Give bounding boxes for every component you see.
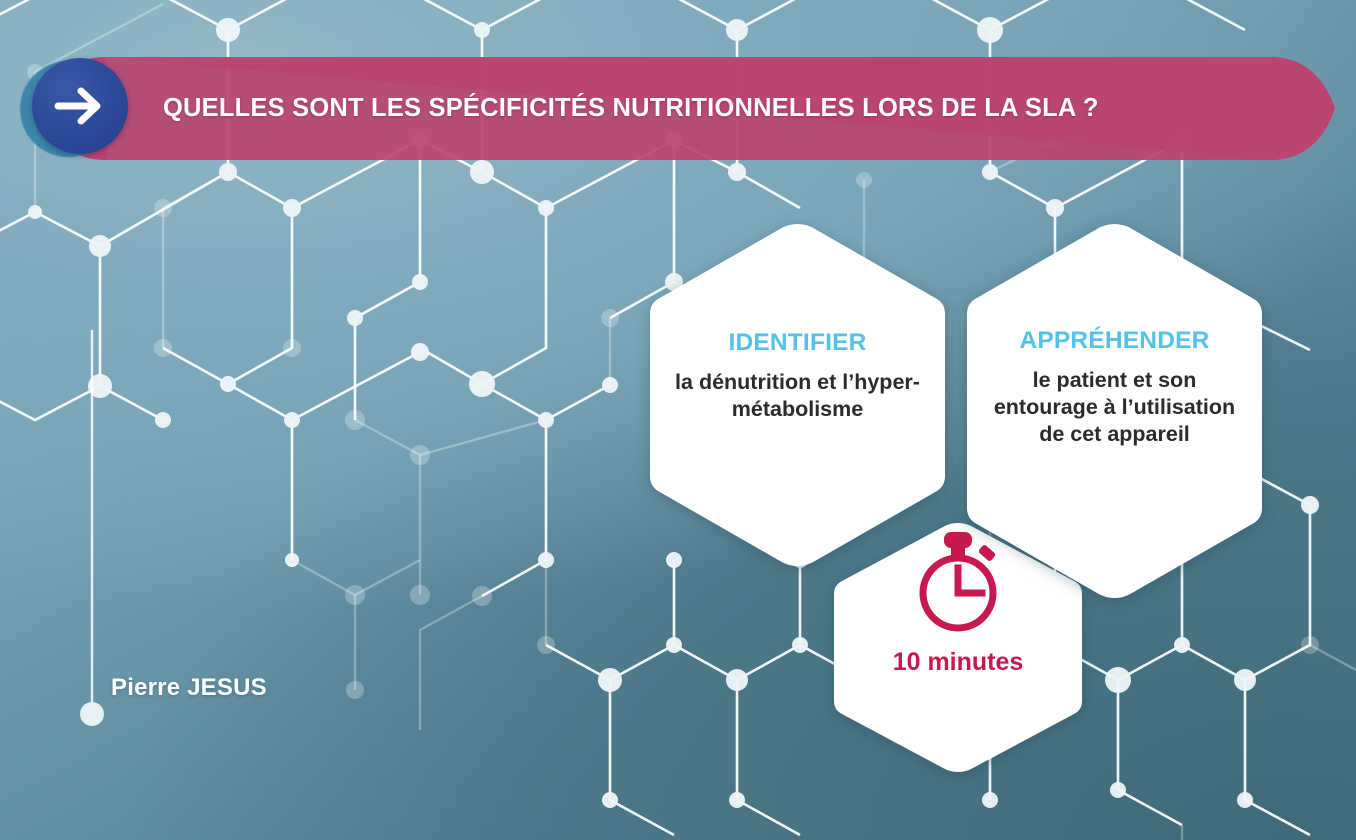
hexagon-card-apprehender[interactable]: 2 APPRÉHENDER le patient et son entourag… [963,290,1266,532]
timer-label: 10 minutes [831,648,1085,677]
card-heading: IDENTIFIER [672,330,923,357]
page-title: QUELLES SONT LES SPÉCIFICITÉS NUTRITIONN… [163,57,1099,160]
presentation-slide: .ln { stroke:#ffffff; stroke-width:2.6; … [0,0,1356,840]
card-text: le patient et son entourage à l’utilisat… [989,367,1240,448]
badge-circle [32,58,128,154]
author-connector-line [70,330,130,730]
slide-header-banner: QUELLES SONT LES SPÉCIFICITÉS NUTRITIONN… [55,57,1340,160]
card-text: la dénutrition et l’hyper-métabolisme [672,369,923,423]
author-name: Pierre JESUS [111,674,267,702]
card-body: APPRÉHENDER le patient et son entourage … [963,328,1266,448]
card-body: IDENTIFIER la dénutrition et l’hyper-mét… [646,330,949,423]
hexagon-card-identifier[interactable]: 1 IDENTIFIER la dénutrition et l’hyper-m… [646,290,949,500]
arrow-right-icon [54,84,108,128]
card-heading: APPRÉHENDER [989,328,1240,355]
next-arrow-badge[interactable] [20,58,130,160]
